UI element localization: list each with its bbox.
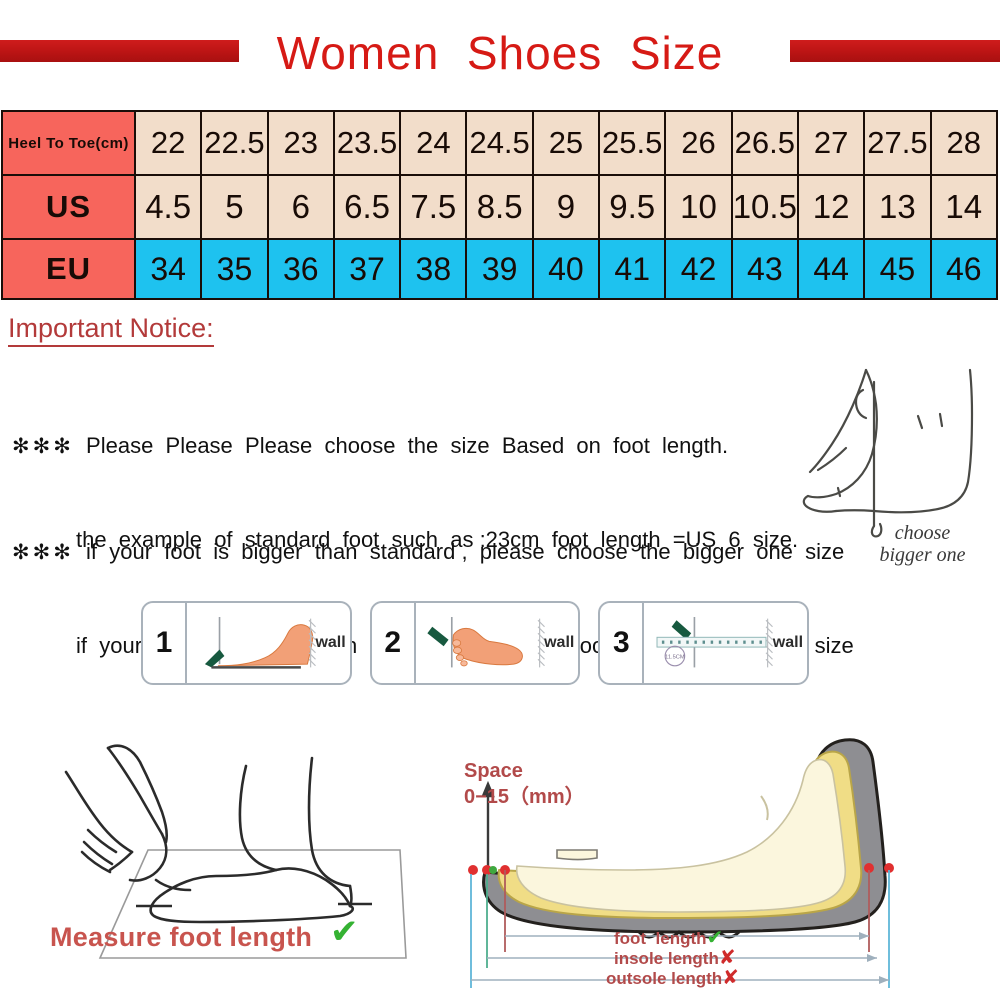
cell-eu: 40 [533,239,599,299]
table-row-heel-to-toe: Heel To Toe(cm) 22 22.5 23 23.5 24 24.5 … [2,111,997,175]
cell-us: 10.5 [732,175,798,239]
row-header-heel-to-toe: Heel To Toe(cm) [2,111,135,175]
step-number: 3 [600,603,644,683]
page-title: Women Shoes Size [0,24,1000,82]
notice-heading: Important Notice: [8,313,214,347]
asterisk-icon: ✻✻✻ [12,435,74,458]
choose-bigger-line1: choose [895,522,951,544]
cell-eu: 37 [334,239,400,299]
cell-us: 7.5 [400,175,466,239]
space-label: Space 0−15（mm） [464,758,585,810]
cell-eu: 34 [135,239,201,299]
step-1-illustration: wall [187,603,350,683]
cell-eu: 42 [665,239,731,299]
cell-eu: 41 [599,239,665,299]
measure-foot-caption: Measure foot length [50,922,312,953]
measure-foot-illustration [0,700,430,1000]
cell-cm: 27.5 [864,111,930,175]
cell-cm: 23 [268,111,334,175]
wall-label: wall [773,634,803,652]
cell-cm: 27 [798,111,864,175]
ruler-badge-text: 11.5CM [666,654,686,660]
page-title-band: Women Shoes Size [0,24,1000,84]
step-3-illustration: 11.5CM wall [644,603,807,683]
row-header-us: US [2,175,135,239]
wall-label: wall [315,634,345,652]
notice-text: Please Please Please choose the size Bas… [86,433,728,458]
notice-line: ✻✻✻ Please Please Please choose the size… [12,430,798,462]
step-panel-2: 2 wall [370,601,581,685]
cell-eu: 43 [732,239,798,299]
step-2-illustration: wall [416,603,579,683]
cell-us: 13 [864,175,930,239]
cell-us: 4.5 [135,175,201,239]
cell-us: 12 [798,175,864,239]
cell-us: 9 [533,175,599,239]
step-panel-1: 1 wall [141,601,352,685]
cell-cm: 22 [135,111,201,175]
cell-us: 6.5 [334,175,400,239]
notice-text: if your foot is bigger than standard , p… [86,539,844,564]
label-text: outsole length [606,969,722,988]
cell-cm: 25.5 [599,111,665,175]
wall-label: wall [544,634,574,652]
asterisk-icon: ✻✻✻ [12,541,74,564]
cell-eu: 39 [466,239,532,299]
cell-cm: 28 [931,111,997,175]
cell-cm: 26.5 [732,111,798,175]
cell-us: 9.5 [599,175,665,239]
cell-eu: 36 [268,239,334,299]
cell-eu: 44 [798,239,864,299]
measurement-steps: 1 wall 2 [141,601,809,685]
cell-us: 8.5 [466,175,532,239]
check-mark-icon: ✔ [330,915,359,949]
step-panel-3: 3 11.5CM [598,601,809,685]
cell-us: 10 [665,175,731,239]
step-number: 1 [143,603,187,683]
cell-eu: 46 [931,239,997,299]
cell-cm: 24 [400,111,466,175]
cell-us: 14 [931,175,997,239]
choose-bigger-line2: bigger one [879,544,965,566]
table-row-eu: EU 34 35 36 37 38 39 40 41 42 43 44 45 4… [2,239,997,299]
cell-us: 5 [201,175,267,239]
step-number: 2 [372,603,416,683]
cell-cm: 22.5 [201,111,267,175]
cross-mark-icon: ✘ [722,967,739,989]
space-label-line1: Space [464,760,523,782]
row-header-eu: EU [2,239,135,299]
cell-cm: 24.5 [466,111,532,175]
notice-line: ✻✻✻ if your foot is bigger than standard… [12,536,854,568]
label-outsole-length: outsole length✘ [606,965,739,990]
size-chart-table: Heel To Toe(cm) 22 22.5 23 23.5 24 24.5 … [1,110,998,300]
space-label-line2: 0−15（mm） [464,786,585,808]
table-row-us: US 4.5 5 6 6.5 7.5 8.5 9 9.5 10 10.5 12 … [2,175,997,239]
cell-cm: 23.5 [334,111,400,175]
cell-eu: 35 [201,239,267,299]
choose-bigger-caption: choose bigger one [845,522,1000,566]
cell-us: 6 [268,175,334,239]
cell-eu: 38 [400,239,466,299]
cell-eu: 45 [864,239,930,299]
cell-cm: 25 [533,111,599,175]
cell-cm: 26 [665,111,731,175]
